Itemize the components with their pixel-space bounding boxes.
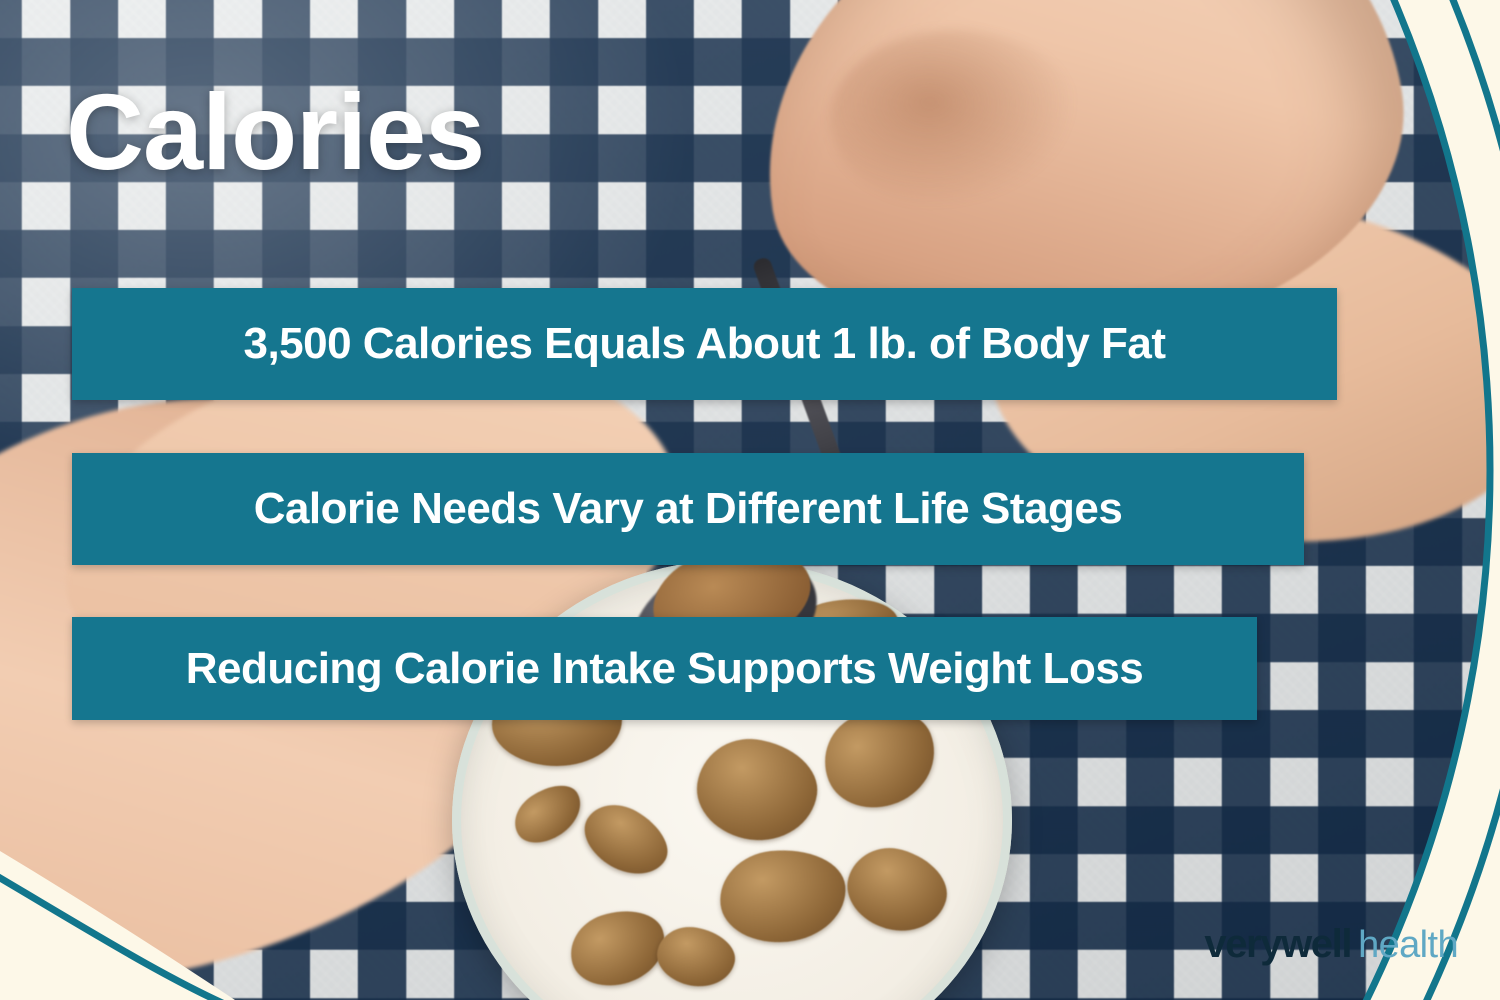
cereal-flake	[653, 922, 740, 993]
highlight-bar-3-label: Reducing Calorie Intake Supports Weight …	[72, 644, 1257, 694]
infographic-canvas: Calories 3,500 Calories Equals About 1 l…	[0, 0, 1500, 1000]
logo-brand-text: verywell	[1204, 924, 1351, 964]
logo-suffix-text: health	[1358, 926, 1458, 964]
highlight-bar-2: Calorie Needs Vary at Different Life Sta…	[72, 453, 1304, 565]
cereal-flake	[716, 844, 851, 949]
highlight-bar-1-label: 3,500 Calories Equals About 1 lb. of Bod…	[72, 319, 1337, 369]
cereal-flake	[691, 732, 824, 848]
cereal-flake	[838, 838, 956, 942]
cereal-flake	[505, 774, 592, 854]
knuckle-shading	[830, 30, 1080, 210]
verywell-health-logo: verywell health	[1204, 924, 1458, 964]
cereal-flake	[573, 792, 679, 888]
highlight-bar-2-label: Calorie Needs Vary at Different Life Sta…	[72, 484, 1304, 534]
highlight-bar-3: Reducing Calorie Intake Supports Weight …	[72, 617, 1257, 720]
highlight-bar-1: 3,500 Calories Equals About 1 lb. of Bod…	[72, 288, 1337, 400]
page-title: Calories	[66, 78, 484, 186]
